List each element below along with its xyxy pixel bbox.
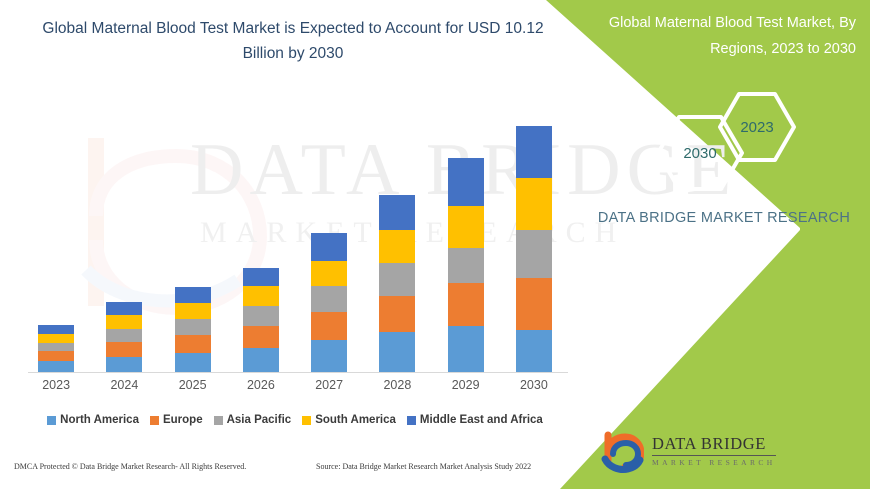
legend-swatch-icon [47,416,56,425]
bar-segment [243,348,279,372]
bar-segment [311,312,347,340]
hexagon-badges: 2030 2023 [654,90,864,190]
legend-label: Europe [163,414,203,426]
hexagon-badge-end-year: 2023 [716,90,798,164]
legend-swatch-icon [150,416,159,425]
stacked-bar [516,126,552,372]
chart-legend: North AmericaEuropeAsia PacificSouth Ame… [22,414,568,426]
bar-segment [38,351,74,361]
x-axis-label: 2023 [22,378,90,392]
bar-segment [311,233,347,261]
infographic-root: DATA BRIDGE MARKET RESEARCH Global Mater… [0,0,870,489]
stacked-bar [448,158,484,372]
legend-label: South America [315,414,396,426]
side-panel-brand: DATA BRIDGE MARKET RESEARCH [586,206,862,230]
side-panel-content: Global Maternal Blood Test Market, By Re… [586,0,870,489]
bar-segment [38,343,74,351]
legend-item[interactable]: Middle East and Africa [407,414,543,426]
bar-segment [106,302,142,315]
bar-segment [175,335,211,353]
x-axis-line [28,372,568,373]
x-axis-label: 2030 [500,378,568,392]
bar-segment [379,230,415,263]
legend-item[interactable]: Europe [150,414,203,426]
bar-column [500,110,568,372]
bar-segment [106,315,142,329]
footer: DMCA Protected © Data Bridge Market Rese… [0,462,586,484]
legend-swatch-icon [302,416,311,425]
legend-item[interactable]: Asia Pacific [214,414,292,426]
bar-segment [38,334,74,343]
x-axis-label: 2027 [295,378,363,392]
bar-segment [243,286,279,306]
legend-swatch-icon [214,416,223,425]
bar-segment [38,361,74,372]
stacked-bar [106,302,142,372]
legend-swatch-icon [407,416,416,425]
bar-segment [448,206,484,248]
bar-segment [243,268,279,286]
stacked-bar [311,233,347,372]
bar-segment [448,283,484,326]
bar-segment [311,340,347,372]
bar-column [22,110,90,372]
bar-group [22,110,568,372]
bar-segment [516,230,552,278]
bar-column [227,110,295,372]
x-axis-label: 2024 [90,378,158,392]
x-axis-label: 2029 [432,378,500,392]
bar-segment [379,296,415,332]
bar-segment [448,326,484,372]
bar-segment [516,178,552,230]
bar-segment [38,325,74,334]
bar-segment [243,326,279,348]
bar-segment [311,286,347,312]
bar-segment [516,278,552,330]
x-axis-label: 2025 [159,378,227,392]
bar-segment [516,330,552,372]
plot-region [22,110,568,373]
bar-segment [175,353,211,372]
chart-area: Global Maternal Blood Test Market is Exp… [0,0,586,489]
stacked-bar [243,268,279,372]
legend-item[interactable]: North America [47,414,139,426]
bar-segment [175,319,211,335]
bar-column [159,110,227,372]
bar-column [432,110,500,372]
footer-copyright: DMCA Protected © Data Bridge Market Rese… [14,462,246,471]
logo-wordmark: DATA BRIDGE MARKET RESEARCH [652,434,776,467]
stacked-bar [38,325,74,372]
hexagon-start-year-label: 2030 [683,145,716,162]
bar-segment [448,248,484,283]
legend-label: Asia Pacific [227,414,292,426]
bar-column [363,110,431,372]
x-axis-labels: 20232024202520262027202820292030 [22,378,568,392]
x-axis-label: 2028 [363,378,431,392]
logo-main-text: DATA BRIDGE [652,434,776,456]
bar-segment [311,261,347,286]
bar-segment [106,329,142,342]
bar-segment [516,126,552,178]
bar-segment [175,287,211,303]
page-title: Global Maternal Blood Test Market is Exp… [26,16,560,66]
legend-item[interactable]: South America [302,414,396,426]
logo-sub-text: MARKET RESEARCH [652,458,776,467]
data-bridge-b-logo-icon [600,430,644,474]
x-axis-label: 2026 [227,378,295,392]
bar-segment [243,306,279,326]
bar-segment [175,303,211,319]
legend-label: Middle East and Africa [420,414,543,426]
bar-column [90,110,158,372]
brand-logo: DATA BRIDGE MARKET RESEARCH [600,428,800,476]
bar-column [295,110,363,372]
bar-segment [106,342,142,357]
side-panel-title: Global Maternal Blood Test Market, By Re… [594,10,864,62]
stacked-bar [175,287,211,372]
bar-segment [379,195,415,230]
bar-segment [106,357,142,372]
stacked-bar [379,195,415,372]
footer-source: Source: Data Bridge Market Research Mark… [316,462,531,471]
hexagon-end-year-label: 2023 [740,119,773,136]
bar-segment [379,263,415,296]
legend-label: North America [60,414,139,426]
bar-segment [448,158,484,206]
bar-segment [379,332,415,372]
